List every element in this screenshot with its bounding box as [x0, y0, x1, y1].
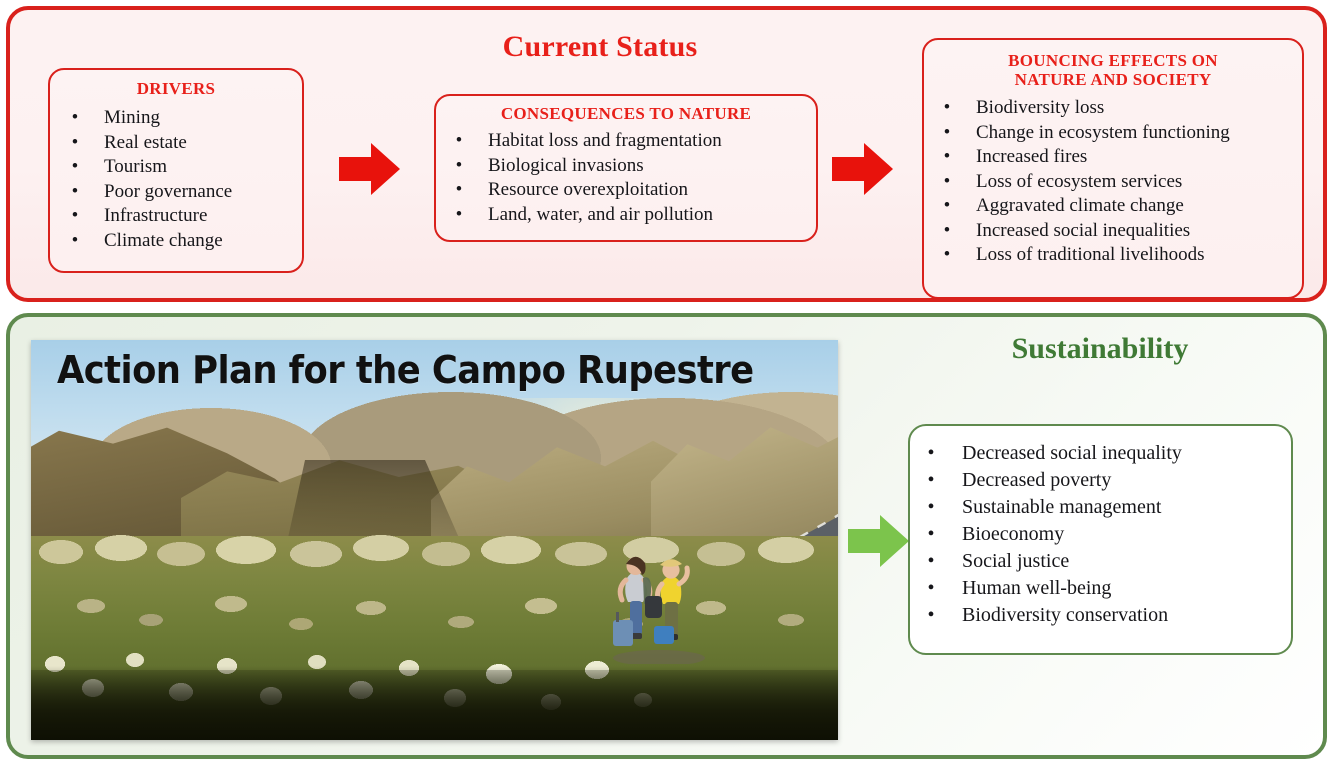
list-item: •Poor governance [68, 180, 302, 205]
bullet-icon: • [452, 129, 466, 154]
red-arrow-right-icon-1 [339, 141, 401, 197]
outcomes-list: •Decreased social inequality •Decreased … [924, 440, 1291, 629]
list-item: •Biodiversity loss [940, 96, 1302, 121]
list-item: •Biodiversity conservation [924, 602, 1291, 629]
list-item: •Increased fires [940, 145, 1302, 170]
bullet-icon: • [68, 106, 82, 131]
bullet-icon: • [452, 178, 466, 203]
list-item: •Aggravated climate change [940, 194, 1302, 219]
green-arrow-right-icon [848, 513, 910, 569]
list-item: •Land, water, and air pollution [452, 203, 816, 228]
foreground-grass [31, 666, 838, 740]
infographic-canvas: Current Status DRIVERS •Mining •Real est… [0, 0, 1333, 765]
list-item: •Infrastructure [68, 204, 302, 229]
bullet-icon: • [940, 219, 954, 244]
consequences-heading: CONSEQUENCES TO NATURE [436, 96, 816, 123]
bullet-icon: • [924, 440, 938, 467]
bullet-icon: • [68, 131, 82, 156]
bullet-icon: • [924, 467, 938, 494]
photo-overlay-title: Action Plan for the Campo Rupestre [57, 348, 754, 392]
consequences-list: •Habitat loss and fragmentation •Biologi… [452, 129, 816, 227]
consequences-box: CONSEQUENCES TO NATURE •Habitat loss and… [434, 94, 818, 242]
bullet-icon: • [452, 203, 466, 228]
list-item: •Biological invasions [452, 154, 816, 179]
backpack [645, 596, 662, 618]
bullet-icon: • [924, 521, 938, 548]
bouncing-effects-box: BOUNCING EFFECTS ON NATURE AND SOCIETY •… [922, 38, 1304, 299]
list-item: •Human well-being [924, 575, 1291, 602]
list-item: •Climate change [68, 229, 302, 254]
list-item: •Habitat loss and fragmentation [452, 129, 816, 154]
sustainability-outcomes-box: •Decreased social inequality •Decreased … [908, 424, 1293, 655]
bouncing-effects-heading: BOUNCING EFFECTS ON NATURE AND SOCIETY [924, 40, 1302, 89]
bullet-icon: • [452, 154, 466, 179]
bullet-icon: • [940, 243, 954, 268]
list-item: •Bioeconomy [924, 521, 1291, 548]
list-item: •Social justice [924, 548, 1291, 575]
bullet-icon: • [924, 602, 938, 629]
sustainability-title: Sustainability [905, 332, 1295, 366]
list-item: •Resource overexploitation [452, 178, 816, 203]
list-item: •Decreased poverty [924, 467, 1291, 494]
current-status-panel: Current Status DRIVERS •Mining •Real est… [6, 6, 1327, 302]
drivers-heading: DRIVERS [50, 70, 302, 98]
bullet-icon: • [940, 145, 954, 170]
bullet-icon: • [924, 494, 938, 521]
campo-rupestre-photo: Action Plan for the Campo Rupestre [31, 340, 838, 740]
bullet-icon: • [924, 548, 938, 575]
bullet-icon: • [940, 170, 954, 195]
bullet-icon: • [68, 180, 82, 205]
suitcase-right [654, 626, 674, 644]
drivers-box: DRIVERS •Mining •Real estate •Tourism •P… [48, 68, 304, 273]
bullet-icon: • [940, 194, 954, 219]
suitcase-left [613, 620, 633, 646]
list-item: •Tourism [68, 155, 302, 180]
drivers-list: •Mining •Real estate •Tourism •Poor gove… [68, 106, 302, 253]
list-item: •Increased social inequalities [940, 219, 1302, 244]
list-item: •Change in ecosystem functioning [940, 121, 1302, 146]
list-item: •Mining [68, 106, 302, 131]
bullet-icon: • [68, 229, 82, 254]
bullet-icon: • [940, 121, 954, 146]
rock-perch [613, 650, 705, 664]
bullet-icon: • [940, 96, 954, 121]
list-item: •Loss of ecosystem services [940, 170, 1302, 195]
sun-hat [660, 559, 682, 567]
list-item: •Loss of traditional livelihoods [940, 243, 1302, 268]
list-item: •Decreased social inequality [924, 440, 1291, 467]
bullet-icon: • [924, 575, 938, 602]
bouncing-effects-list: •Biodiversity loss •Change in ecosystem … [940, 96, 1302, 268]
bullet-icon: • [68, 204, 82, 229]
red-arrow-right-icon-2 [832, 141, 894, 197]
list-item: •Real estate [68, 131, 302, 156]
bullet-icon: • [68, 155, 82, 180]
two-tourists [599, 538, 719, 664]
list-item: •Sustainable management [924, 494, 1291, 521]
